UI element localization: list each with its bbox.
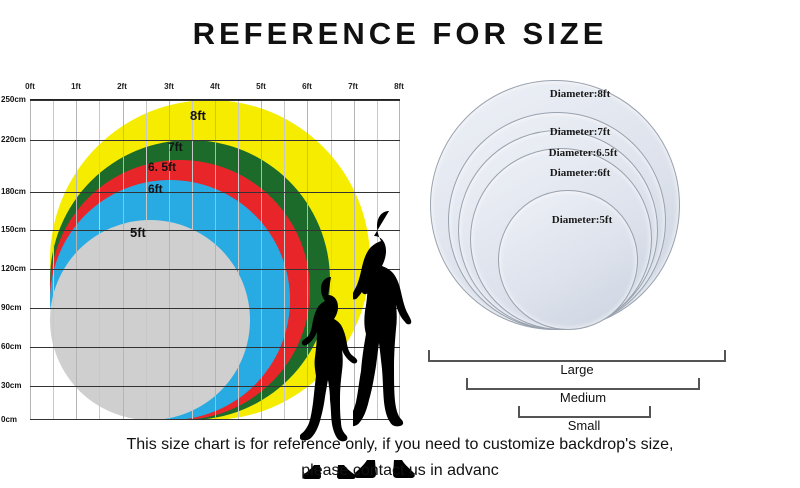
x-tick-3ft: 3ft bbox=[164, 82, 174, 91]
disc-diameter-diagram: Diameter:8ft Diameter:7ft Diameter:6.5ft… bbox=[420, 62, 800, 362]
ring-label-6p5ft: 6. 5ft bbox=[148, 160, 176, 174]
size-category-brackets: Large Medium Small bbox=[420, 340, 800, 430]
y-tick-120cm: 120cm bbox=[1, 264, 26, 273]
bracket-label-small: Small bbox=[568, 418, 601, 433]
y-tick-0cm: 0cm bbox=[1, 415, 17, 424]
y-tick-90cm: 90cm bbox=[1, 303, 21, 312]
y-tick-60cm: 60cm bbox=[1, 342, 21, 351]
ring-label-7ft: 7ft bbox=[168, 140, 183, 154]
ring-label-6ft: 6ft bbox=[148, 182, 163, 196]
bracket-large bbox=[428, 350, 726, 362]
x-tick-0ft: 0ft bbox=[25, 82, 35, 91]
height-reference-chart: 0ft 1ft 2ft 3ft 4ft 5ft 6ft 7ft 8ft 250c… bbox=[0, 70, 420, 430]
y-tick-250cm: 250cm bbox=[1, 95, 26, 104]
ring-5ft bbox=[50, 220, 250, 420]
bracket-small bbox=[518, 406, 651, 418]
caption-line-2: please contact us in advanc bbox=[0, 458, 800, 484]
bracket-medium bbox=[466, 378, 700, 390]
x-tick-5ft: 5ft bbox=[256, 82, 266, 91]
footer-caption: This size chart is for reference only, i… bbox=[0, 432, 800, 484]
x-tick-2ft: 2ft bbox=[117, 82, 127, 91]
x-tick-6ft: 6ft bbox=[302, 82, 312, 91]
x-tick-4ft: 4ft bbox=[210, 82, 220, 91]
ring-label-8ft: 8ft bbox=[190, 108, 206, 123]
ring-label-5ft: 5ft bbox=[130, 225, 146, 240]
disc-label-7ft: Diameter:7ft bbox=[550, 126, 610, 138]
disc-label-5ft: Diameter:5ft bbox=[552, 214, 612, 226]
disc-label-6p5ft: Diameter:6.5ft bbox=[549, 147, 618, 159]
x-tick-1ft: 1ft bbox=[71, 82, 81, 91]
bracket-label-medium: Medium bbox=[560, 390, 606, 405]
y-tick-30cm: 30cm bbox=[1, 381, 21, 390]
caption-line-1: This size chart is for reference only, i… bbox=[0, 432, 800, 458]
y-tick-180cm: 180cm bbox=[1, 187, 26, 196]
disc-label-6ft: Diameter:6ft bbox=[550, 167, 610, 179]
disc-label-8ft: Diameter:8ft bbox=[550, 88, 610, 100]
disc-5ft bbox=[498, 190, 638, 330]
x-tick-7ft: 7ft bbox=[348, 82, 358, 91]
y-tick-220cm: 220cm bbox=[1, 135, 26, 144]
x-tick-8ft: 8ft bbox=[394, 82, 404, 91]
page-title: REFERENCE FOR SIZE bbox=[0, 16, 800, 52]
x-axis-line bbox=[30, 99, 400, 100]
y-tick-150cm: 150cm bbox=[1, 225, 26, 234]
bracket-label-large: Large bbox=[560, 362, 593, 377]
size-chart-image: REFERENCE FOR SIZE bbox=[0, 0, 800, 488]
